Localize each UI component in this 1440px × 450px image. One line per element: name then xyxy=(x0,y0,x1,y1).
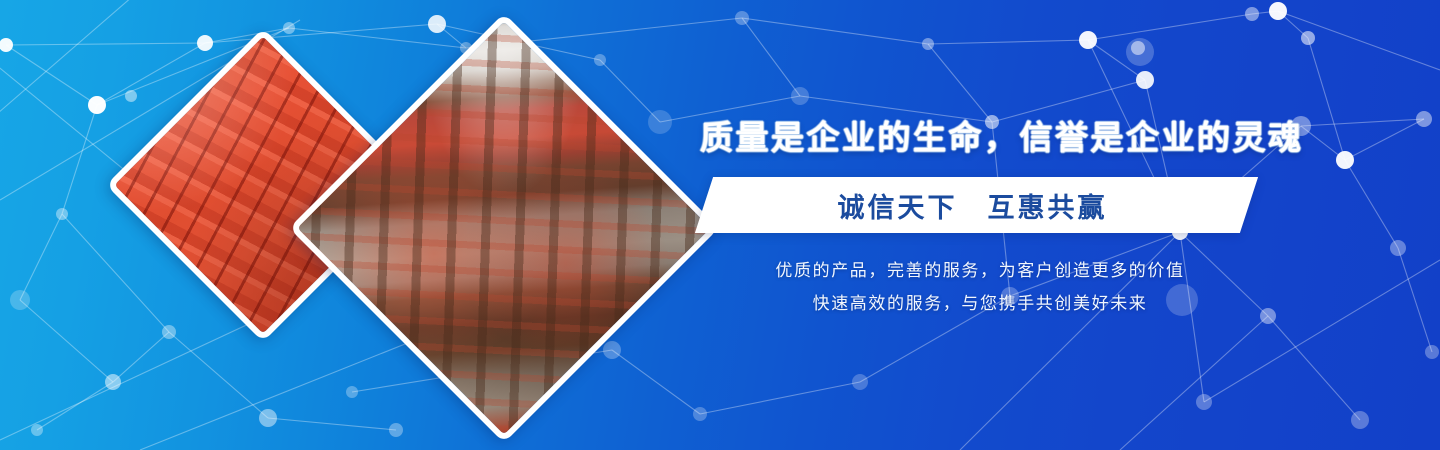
product-photo-two xyxy=(289,13,719,443)
slogan-ribbon-label: 诚信天下 互惠共赢 xyxy=(700,177,1245,233)
slogan-ribbon: 诚信天下 互惠共赢 xyxy=(700,177,1260,233)
banner-subtext: 优质的产品，完善的服务，为客户创造更多的价值 快速高效的服务，与您携手共创美好未… xyxy=(700,255,1260,320)
subtext-line-2: 快速高效的服务，与您携手共创美好未来 xyxy=(700,288,1260,321)
promo-banner: 质量是企业的生命，信誉是企业的灵魂 诚信天下 互惠共赢 优质的产品，完善的服务，… xyxy=(0,0,1440,450)
diamond-photo-pallet-shafts xyxy=(289,13,719,443)
banner-headline: 质量是企业的生命，信誉是企业的灵魂 xyxy=(700,118,1260,158)
subtext-line-1: 优质的产品，完善的服务，为客户创造更多的价值 xyxy=(700,255,1260,288)
banner-text-block: 质量是企业的生命，信誉是企业的灵魂 诚信天下 互惠共赢 优质的产品，完善的服务，… xyxy=(700,118,1260,321)
